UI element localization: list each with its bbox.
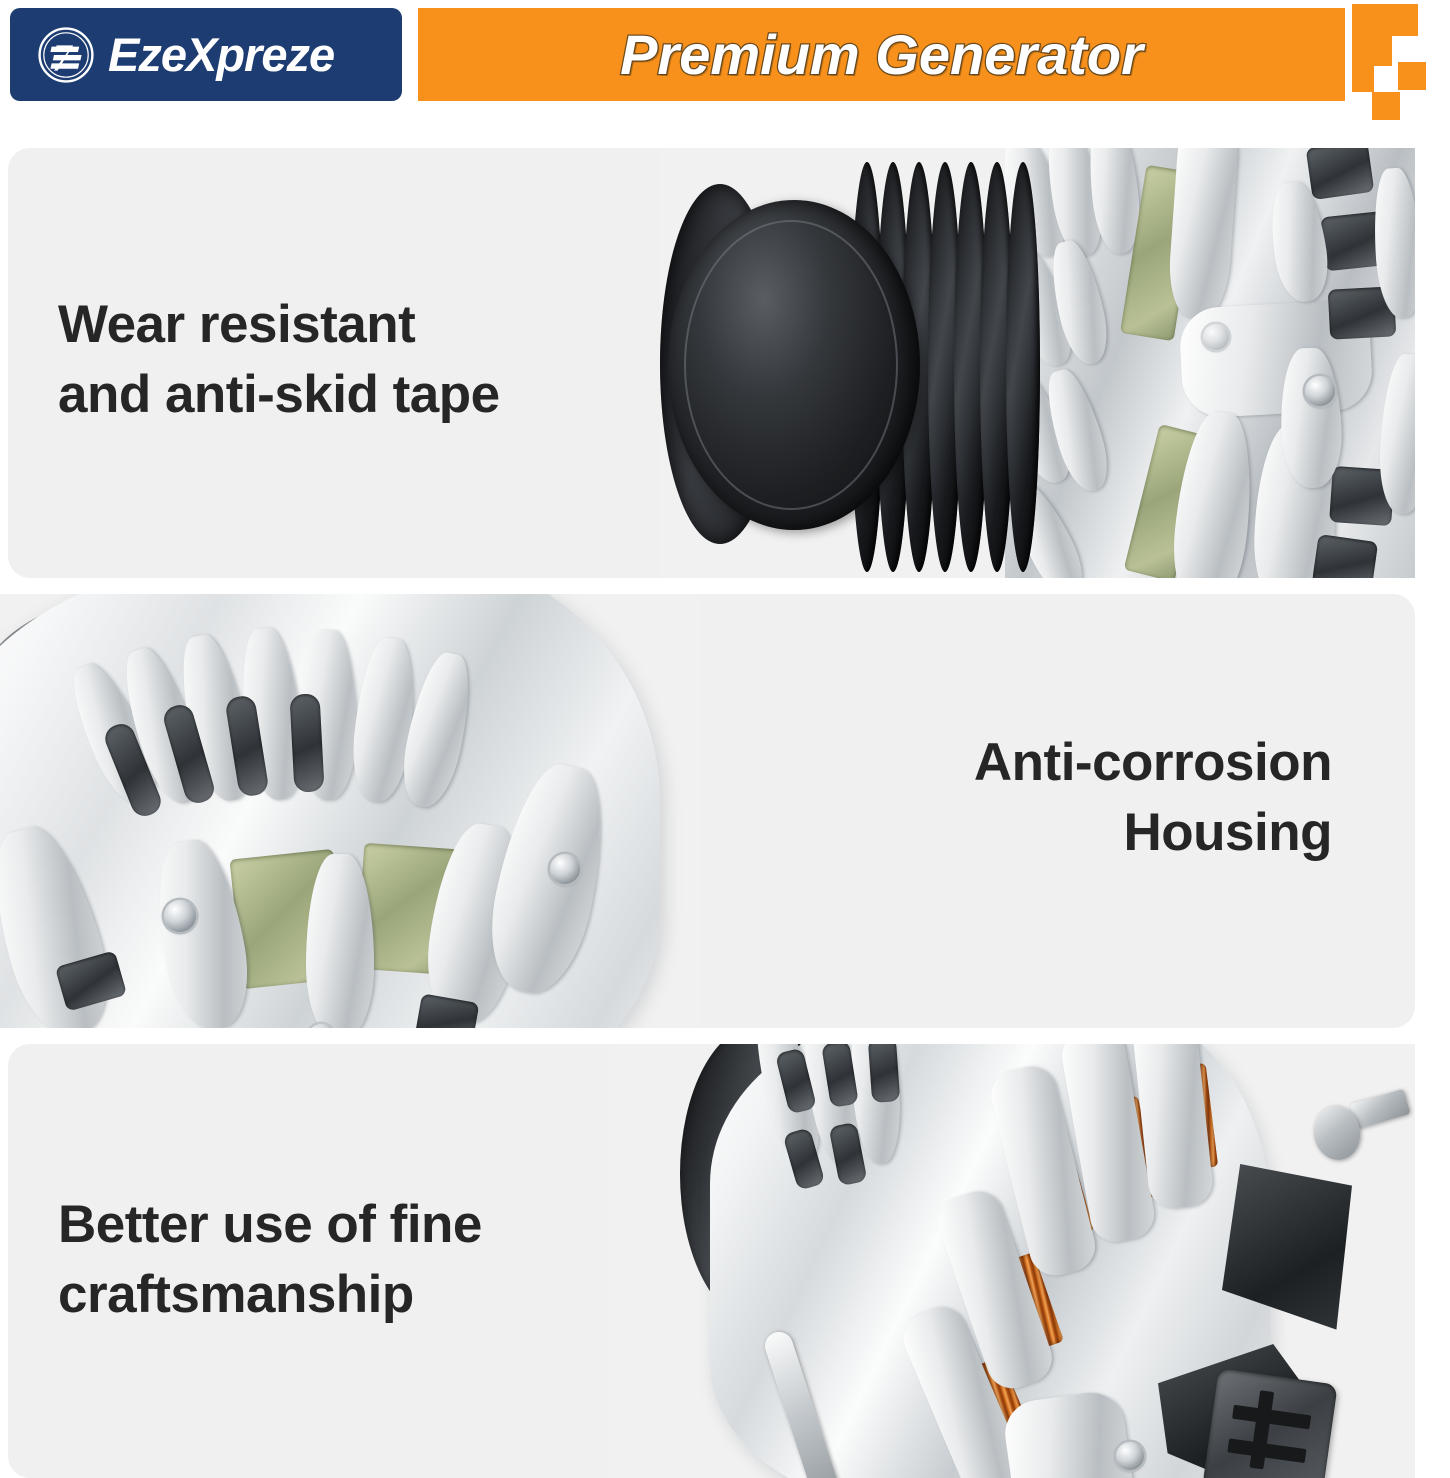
panel-1-caption: Wear resistant and anti-skid tape xyxy=(58,290,500,430)
panel-2-caption: Anti-corrosion Housing xyxy=(974,728,1332,868)
wiring-connector xyxy=(1202,1368,1338,1478)
alternator-housing-photo xyxy=(0,594,700,1028)
panel-3-caption: Better use of fine craftsmanship xyxy=(58,1190,482,1330)
pulley-dust-cap xyxy=(668,200,920,530)
brand-logo-badge: EzeXpreze xyxy=(10,8,402,101)
title-banner: Premium Generator xyxy=(418,8,1345,101)
housing-body xyxy=(1005,148,1415,578)
alternator-windings-photo xyxy=(610,1044,1415,1478)
page-header: EzeXpreze Premium Generator xyxy=(0,0,1450,118)
housing-body xyxy=(0,594,660,1028)
page-title: Premium Generator xyxy=(620,22,1143,87)
brand-name: EzeXpreze xyxy=(108,27,334,82)
orange-pixel-staircase-icon xyxy=(1352,0,1450,122)
ze-monogram-circle-icon xyxy=(36,25,96,85)
alternator-pulley-photo xyxy=(660,148,1415,578)
